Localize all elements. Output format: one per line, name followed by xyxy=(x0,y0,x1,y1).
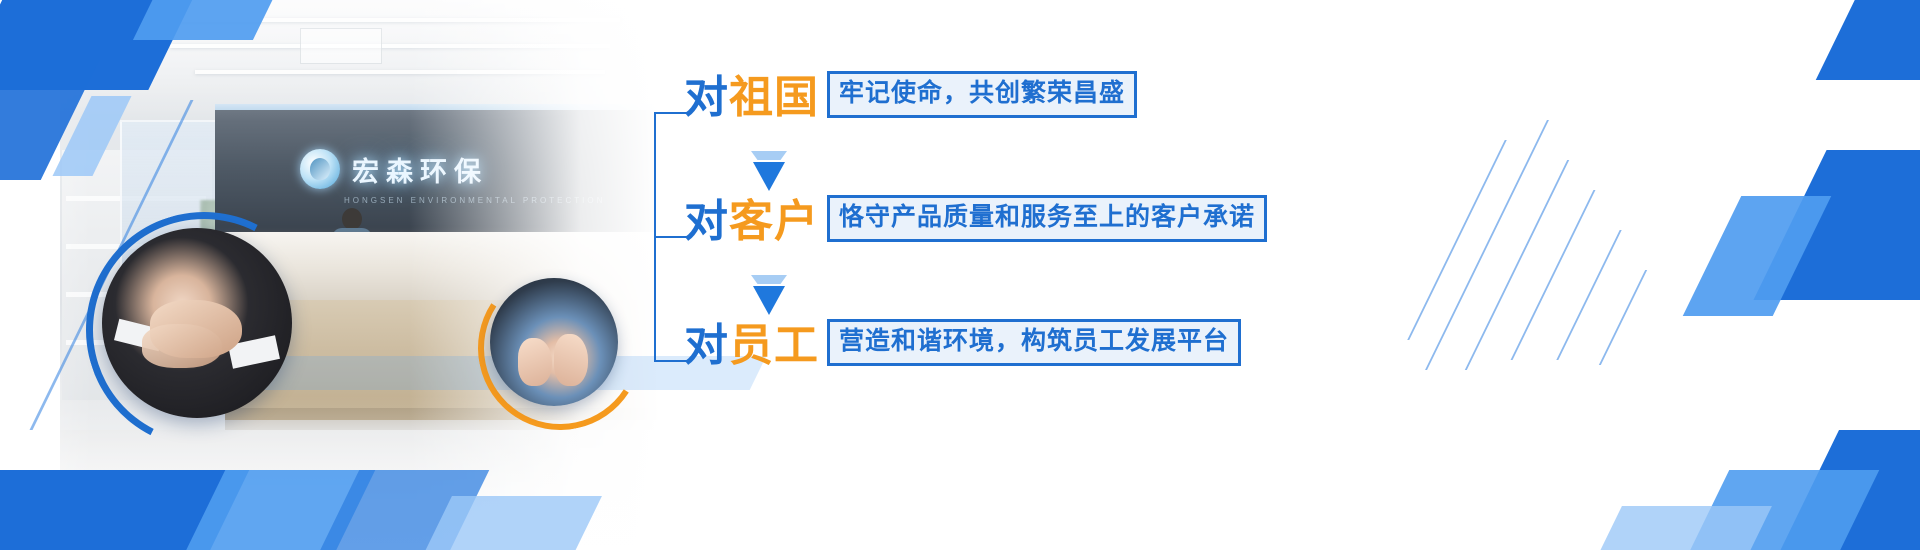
value-statement-customer: 恪守产品质量和服务至上的客户承诺 xyxy=(827,195,1267,242)
decor-shape-bottom-right-3 xyxy=(1578,506,1772,550)
handshake-photo xyxy=(102,228,292,418)
banner-root: 宏森环保 HONGSEN ENVIRONMENTAL PROTECTION xyxy=(0,0,1920,550)
value-statement-employee: 营造和谐环境，构筑员工发展平台 xyxy=(827,319,1241,366)
gesture-image xyxy=(490,278,618,406)
clasped-hands xyxy=(142,324,222,368)
core-values-block: 对祖国 牢记使命，共创繁荣昌盛 对客户 恪守产品质量和服务至上的客户承诺 对员工… xyxy=(654,88,1354,378)
value-row-country: 对祖国 牢记使命，共创繁荣昌盛 xyxy=(684,71,1137,120)
value-lead-keyword: 祖国 xyxy=(729,73,819,122)
triangle-down-body xyxy=(753,162,785,191)
triangle-down-body xyxy=(753,286,785,315)
decor-shape-top-right xyxy=(1816,0,1920,80)
triangle-down-top xyxy=(751,275,787,284)
value-lead-employee: 对员工 xyxy=(684,324,819,368)
value-statement-country: 牢记使命，共创繁荣昌盛 xyxy=(827,71,1137,118)
decor-thin-line xyxy=(1599,270,1647,365)
decor-thin-line xyxy=(1511,190,1596,360)
decor-thin-line xyxy=(1425,120,1549,370)
bracket-tick-1 xyxy=(654,112,688,114)
gesturing-hands-photo xyxy=(490,278,618,406)
value-lead-keyword: 客户 xyxy=(729,197,819,246)
bracket-tick-3 xyxy=(654,360,688,362)
bracket-tick-2 xyxy=(654,236,688,238)
value-row-customer: 对客户 恪守产品质量和服务至上的客户承诺 xyxy=(684,195,1267,244)
decor-thin-line xyxy=(1407,140,1507,340)
triangle-down-top xyxy=(751,151,787,160)
hand xyxy=(518,338,552,386)
value-lead-keyword: 员工 xyxy=(729,321,819,370)
value-lead-prefix: 对 xyxy=(684,321,729,370)
value-lead-customer: 对客户 xyxy=(684,200,819,244)
value-lead-country: 对祖国 xyxy=(684,76,819,120)
value-lead-prefix: 对 xyxy=(684,197,729,246)
value-lead-prefix: 对 xyxy=(684,73,729,122)
hand xyxy=(554,334,588,386)
value-row-employee: 对员工 营造和谐环境，构筑员工发展平台 xyxy=(684,319,1241,368)
